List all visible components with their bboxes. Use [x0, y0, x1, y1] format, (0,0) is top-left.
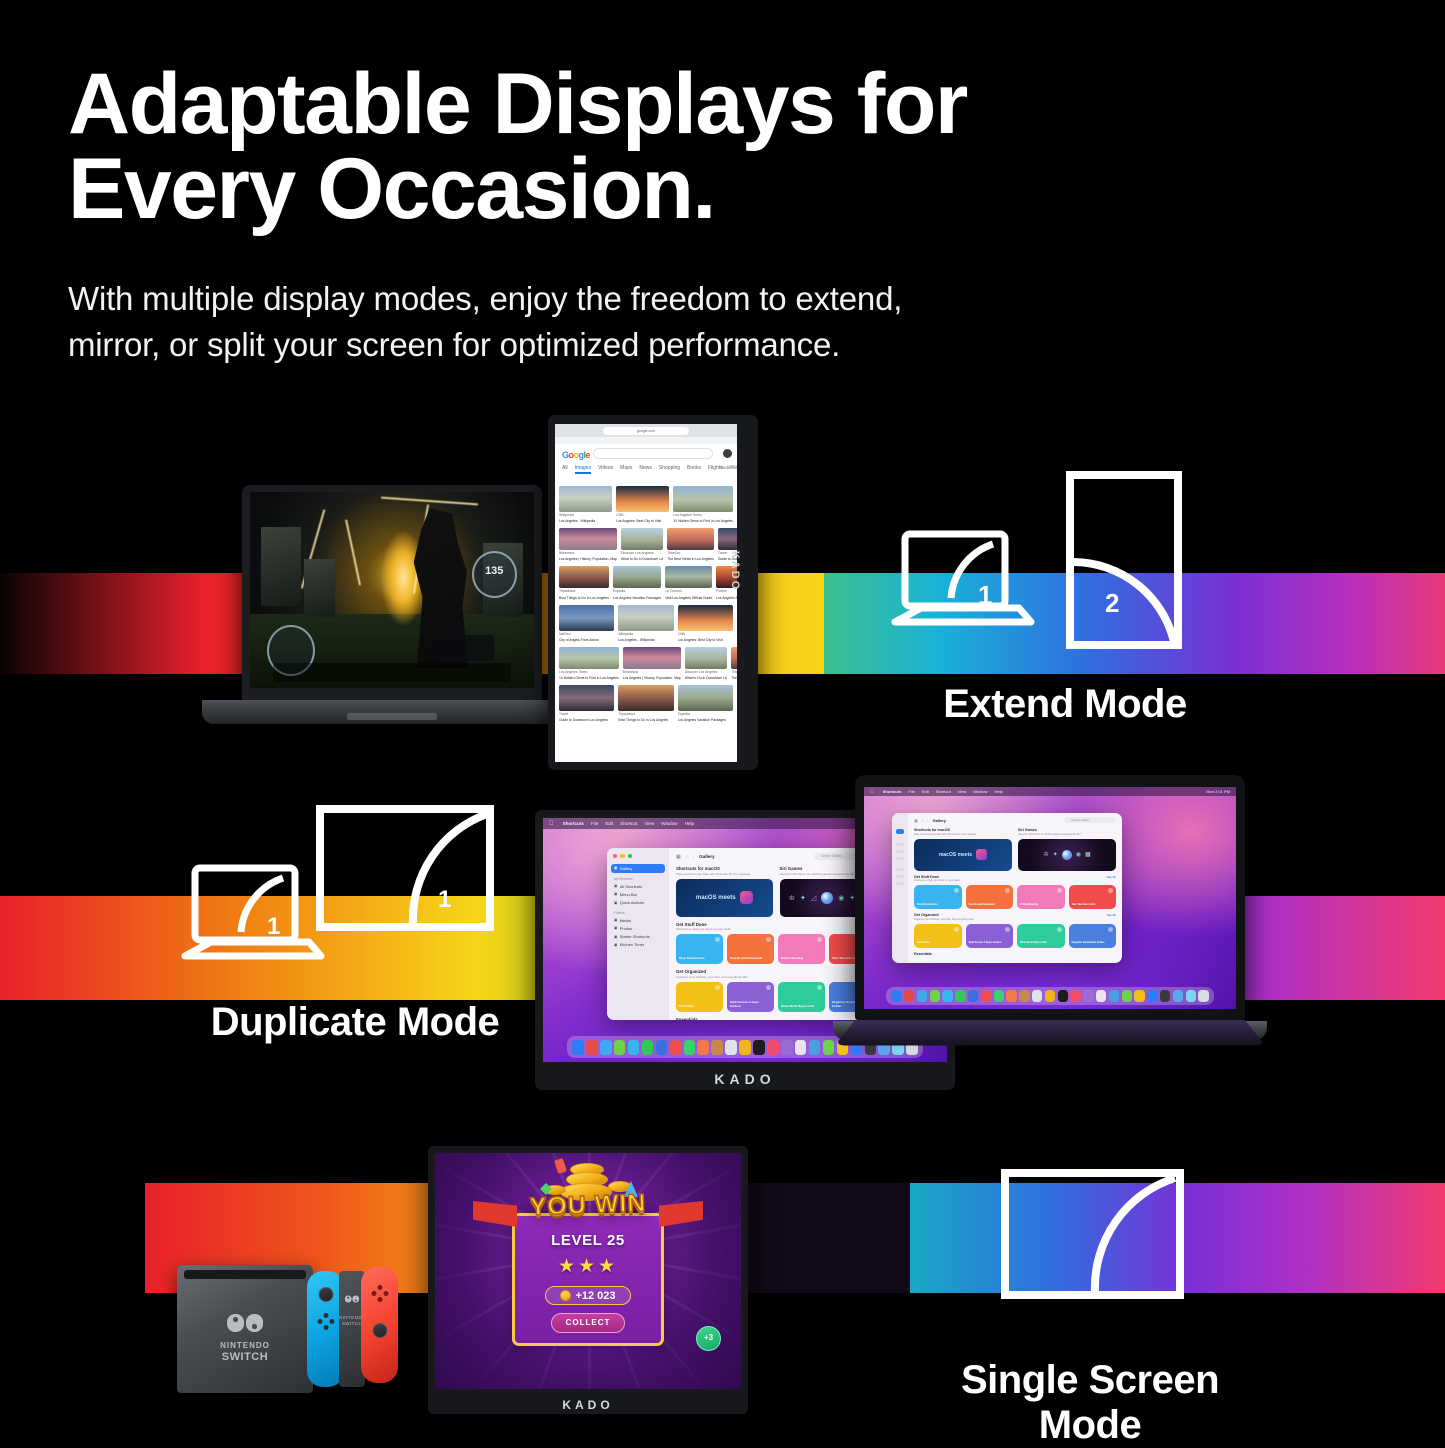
dock-icon[interactable]	[917, 990, 927, 1002]
dock-icon[interactable]	[642, 1040, 654, 1055]
nintendo-switch-logo-icon	[226, 1313, 264, 1333]
card-icon	[1005, 888, 1010, 893]
dock-icon[interactable]	[994, 990, 1004, 1002]
sidebar-item-media[interactable]: ▣Media	[611, 916, 665, 924]
dock-icon[interactable]	[809, 1040, 821, 1055]
dice-icon: ▦	[1085, 851, 1091, 858]
minimize-icon	[620, 854, 624, 858]
sidebar-item-icon: ▣	[614, 926, 617, 930]
search-tab[interactable]: Books	[687, 465, 701, 474]
shortcut-card[interactable]: Turn Text into Audio	[1069, 885, 1117, 909]
result-title: Best Things to Do in Los Angeles	[559, 596, 609, 601]
section-heading: Siri Games	[1018, 828, 1116, 832]
result-thumbnail[interactable]	[618, 685, 673, 711]
dock-icon[interactable]	[586, 1040, 598, 1055]
gaming-laptop-device: 135	[180, 485, 600, 785]
search-tab[interactable]: All	[562, 465, 568, 474]
extend-mode-row: 135 google.com Google AllImagesVide	[0, 415, 1445, 775]
image-result[interactable]: ExpediaLos Angeles Vacation Packages	[613, 566, 661, 600]
menubar-item[interactable]: Help	[995, 789, 1003, 794]
menubar-item[interactable]: Help	[685, 821, 694, 826]
image-result[interactable]: TimeOutThe Best Views in Los Angeles	[731, 647, 737, 681]
sidebar-item-label: All Shortcuts	[620, 884, 642, 889]
hero-label: macOS meets	[696, 895, 736, 901]
dock-icon[interactable]	[1173, 990, 1183, 1002]
menubar-item[interactable]: Shortcut	[620, 821, 637, 826]
menubar-item[interactable]: Window	[973, 789, 987, 794]
result-thumbnail[interactable]	[559, 566, 609, 588]
dock-icon[interactable]	[981, 990, 991, 1002]
dock-icon[interactable]	[1070, 990, 1080, 1002]
section-sub: Organize your desktop, your files, and e…	[914, 918, 1116, 921]
apple-logo-icon: 	[549, 821, 554, 827]
forward-icon[interactable]: ›	[927, 818, 928, 823]
star-icon: ✦	[1053, 851, 1058, 858]
image-result[interactable]: TripadvisorBest Things to Do in Los Ange…	[618, 685, 673, 723]
result-thumbnail[interactable]	[559, 528, 617, 550]
dock-icon[interactable]	[628, 1040, 640, 1055]
sidebar-item-kitchen-timer[interactable]: ▣Kitchen Timer	[611, 941, 665, 949]
dock-icon[interactable]	[1019, 990, 1029, 1002]
result-title: What to Do in Downtown LA	[621, 557, 663, 562]
search-tabs[interactable]: AllImagesVideosMapsNewsShoppingBooksFlig…	[562, 465, 737, 474]
sidebar-item-label: Menu Bar	[620, 892, 637, 897]
see-all-link[interactable]: See All	[1107, 913, 1116, 917]
result-thumbnail[interactable]	[559, 647, 619, 669]
image-result[interactable]: Los Angeles Times10 Hidden Gems to Find …	[673, 486, 733, 524]
image-result[interactable]: ExpediaLos Angeles Vacation Packages	[678, 685, 733, 723]
sidebar-item-label: Quick Actions	[620, 900, 644, 905]
shortcut-card[interactable]: Online Meeting	[778, 934, 825, 964]
card-label: Online Meeting	[1020, 903, 1060, 906]
result-title: Los Angeles Vacation Packages	[613, 596, 661, 601]
dock-icon[interactable]	[823, 1040, 835, 1055]
result-title: What to Do in Downtown LA	[685, 676, 727, 681]
card-label: Stop Distractions	[917, 903, 957, 906]
image-result[interactable]: Discover Los AngelesWhat to Do in Downto…	[685, 647, 727, 681]
image-result[interactable]: Discover Los AngelesWhat to Do in Downto…	[621, 528, 663, 562]
result-thumbnail[interactable]	[613, 566, 661, 588]
result-thumbnail[interactable]	[718, 528, 737, 550]
shortcut-card[interactable]: Sort Inbox	[676, 982, 723, 1012]
result-source: Discover Los Angeles	[621, 551, 663, 556]
dock-icon[interactable]	[670, 1040, 682, 1055]
apple-logo-icon: 	[870, 789, 874, 795]
coin-icon	[560, 1290, 571, 1301]
result-title: Los Angeles Skyline at Sunset	[716, 596, 737, 601]
ammo-counter: 135	[477, 566, 511, 577]
section-sub: Take control of your Mac with shortcuts …	[676, 872, 773, 876]
result-source: LA Tourism	[665, 589, 712, 594]
card-label: Wine Mock Days Limit	[781, 1005, 821, 1009]
laptop-icon	[881, 528, 1036, 640]
dock-icon[interactable]	[1147, 990, 1157, 1002]
image-result[interactable]: BritannicaLos Angeles | History, Populat…	[559, 528, 617, 562]
result-title: Los Angeles: Best City to Visit	[678, 638, 733, 643]
result-source: Tripadvisor	[559, 589, 609, 594]
card-icon	[1057, 888, 1062, 893]
shortcut-card[interactable]: Organize Downloads Folder	[1069, 924, 1117, 948]
sidebar-group-label: Folders	[614, 911, 665, 915]
hero-card-macos[interactable]: macOS meets	[676, 879, 773, 917]
dock-icon[interactable]	[725, 1040, 737, 1055]
result-source: Travel	[559, 712, 614, 717]
dock-icon[interactable]	[656, 1040, 668, 1055]
dock-icon[interactable]	[1198, 990, 1208, 1002]
search-input[interactable]	[593, 448, 713, 459]
dock-icon[interactable]	[904, 990, 914, 1002]
card-icon	[715, 937, 720, 942]
dock-icon[interactable]	[1109, 990, 1119, 1002]
coin-reward: +12 023	[545, 1286, 631, 1305]
dock-icon[interactable]	[739, 1040, 751, 1055]
menubar-item[interactable]: Shortcuts	[883, 789, 902, 794]
menubar-items[interactable]: ShortcutsFileEditShortcutViewWindowHelp	[563, 821, 702, 826]
image-result[interactable]: NatGeoCity of Angels From Above	[559, 605, 614, 643]
result-thumbnail[interactable]	[623, 647, 681, 669]
result-thumbnail[interactable]	[673, 486, 733, 512]
dock-icon[interactable]	[1134, 990, 1144, 1002]
collect-button[interactable]: COLLECT	[551, 1313, 625, 1333]
section-sub: Organize your desktop, your files, and e…	[676, 975, 876, 979]
result-source: Britannica	[559, 551, 617, 556]
menubar-item[interactable]: Edit	[922, 789, 929, 794]
card-icon	[1005, 927, 1010, 932]
game-scene: 135	[250, 492, 534, 688]
crown-icon: ♔	[789, 894, 795, 902]
macbook-screen:  ShortcutsFileEditShortcutViewWindowHel…	[864, 787, 1236, 1009]
image-result[interactable]: CNNLos Angeles: Best City to Visit	[616, 486, 669, 524]
page-title: Adaptable Displays for Every Occasion.	[68, 62, 1268, 232]
maximize-icon	[628, 854, 632, 858]
win-panel: LEVEL 25 ★★★ +12 023 COLLECT	[512, 1213, 664, 1346]
result-thumbnail[interactable]	[559, 605, 614, 631]
dock-icon[interactable]	[600, 1040, 612, 1055]
page-subtitle: With multiple display modes, enjoy the f…	[68, 276, 1268, 367]
star-rating: ★★★	[523, 1255, 653, 1278]
result-title: Los Angeles | History, Population, Map	[623, 676, 681, 681]
hero-label: macOS meets	[939, 852, 972, 858]
menubar-clock: Mon 2:01 PM	[1206, 789, 1230, 794]
duplicate-mode-row: 1 1 Duplicate Mode  ShortcutsFileEditSh…	[0, 780, 1445, 1100]
dock-icon[interactable]	[1096, 990, 1106, 1002]
card-label: Search and Download	[730, 957, 770, 961]
dock-icon[interactable]	[572, 1040, 584, 1055]
image-result[interactable]: WikipediaLos Angeles - Wikipedia	[559, 486, 612, 524]
coin-amount: +12 023	[575, 1290, 615, 1302]
game-monitor-device: YOU WIN LEVEL 25 ★★★ +12 023 COLLECT +3 …	[428, 1146, 748, 1414]
result-source: CNN	[678, 632, 733, 637]
menubar-item[interactable]: File	[591, 821, 598, 826]
shortcut-card[interactable]: Stop Distractions	[676, 934, 723, 964]
dock-icon[interactable]	[767, 1040, 779, 1055]
card-icon	[1108, 888, 1113, 893]
shortcuts-main: ▦ ‹ › Gallery Search Gallery Shortcuts f…	[669, 848, 883, 1020]
crown-icon: ♔	[1043, 851, 1048, 858]
result-source: TimeOut	[667, 551, 714, 556]
menubar-status[interactable]: Mon 2:01 PM	[1206, 789, 1230, 794]
shortcut-card[interactable]: Search and Download	[966, 885, 1014, 909]
result-title: Los Angeles: Best City to Visit	[616, 519, 669, 524]
see-all-link[interactable]: See All	[1107, 875, 1116, 879]
forward-icon[interactable]: ›	[692, 854, 694, 860]
result-title: Guide to Downtown Los Angeles	[559, 718, 614, 723]
result-thumbnail[interactable]	[678, 605, 733, 631]
header: Adaptable Displays for Every Occasion. W…	[68, 62, 1268, 367]
result-source: CNN	[616, 513, 669, 518]
result-source: TimeOut	[731, 670, 737, 675]
result-source: Expedia	[678, 712, 733, 717]
dock-icon[interactable]	[684, 1040, 696, 1055]
search-tab[interactable]: Web	[730, 465, 737, 474]
shortcuts-window[interactable]: ▣GalleryMy Shortcuts▣All Shortcuts▣Menu …	[607, 848, 883, 1020]
chat-icon: ◿	[811, 894, 816, 902]
brand-logo-game-monitor: KADO	[428, 1398, 748, 1412]
window-title: Gallery	[699, 854, 715, 859]
duplicate-laptop-number: 1	[267, 913, 280, 941]
card-grid-get-stuff-done[interactable]: Stop DistractionsSearch and DownloadOnli…	[676, 934, 876, 964]
result-thumbnail[interactable]	[731, 647, 737, 669]
sidebar-item-quick-actions[interactable]: ▣Quick Actions	[611, 898, 665, 906]
game-monitor-screen: YOU WIN LEVEL 25 ★★★ +12 023 COLLECT +3	[435, 1153, 741, 1389]
card-icon	[715, 985, 720, 990]
sidebar-item-all-shortcuts[interactable]: ▣All Shortcuts	[611, 882, 665, 890]
shortcut-card[interactable]: Wine Mock Days Limit	[778, 982, 825, 1012]
card-icon	[1057, 927, 1062, 932]
result-thumbnail[interactable]	[685, 647, 727, 669]
result-thumbnail[interactable]	[559, 486, 612, 512]
result-thumbnail[interactable]	[621, 528, 663, 550]
browser-url-bar[interactable]: google.com	[603, 427, 689, 435]
sidebar-item-menu-bar[interactable]: ▣Menu Bar	[611, 890, 665, 898]
section-sub: Shortcuts to help you focus on your task…	[914, 879, 1116, 882]
result-thumbnail[interactable]	[678, 685, 733, 711]
card-label: Stop Distractions	[679, 957, 719, 961]
search-tab[interactable]: Shopping	[659, 465, 680, 474]
image-result[interactable]: WikipediaLos Angeles - Wikipedia	[618, 605, 673, 643]
result-source: Los Angeles Times	[559, 670, 619, 675]
dock-icon[interactable]	[1058, 990, 1068, 1002]
sidebar-item-icon: ▣	[614, 866, 617, 870]
shortcuts-search-input[interactable]: Search Gallery	[1064, 817, 1116, 823]
sidebar-item-label: Media	[620, 918, 631, 923]
section-sub: Take control of your Mac with shortcuts …	[914, 833, 1012, 836]
result-title: City of Angels From Above	[559, 638, 614, 643]
dock-icon[interactable]	[891, 990, 901, 1002]
image-result[interactable]: CNNLos Angeles: Best City to Visit	[678, 605, 733, 643]
back-icon[interactable]: ‹	[686, 854, 688, 860]
card-grid-get-organized[interactable]: Sort InboxSplit Screen 2 Apps CarbonWine…	[914, 924, 1116, 948]
result-thumbnail[interactable]	[665, 566, 712, 588]
card-label: Online Meeting	[781, 957, 821, 961]
image-result[interactable]: Los Angeles Times10 Hidden Gems to Find …	[559, 647, 619, 681]
card-grid-get-stuff-done[interactable]: Stop DistractionsSearch and DownloadOnli…	[914, 885, 1116, 909]
sidebar-item-photos[interactable]: ▣Photos	[611, 924, 665, 932]
sidebar-toggle-icon[interactable]: ▦	[914, 818, 918, 823]
section-heading: Get Stuff Done	[914, 875, 1116, 879]
menubar-item[interactable]: View	[644, 821, 654, 826]
sidebar-item-starter-shortcuts[interactable]: ▣Starter Shortcuts	[611, 933, 665, 941]
siri-orb-icon	[1062, 850, 1072, 860]
sidebar-item-icon: ▣	[614, 901, 617, 905]
result-thumbnail[interactable]	[618, 605, 673, 631]
tools-button[interactable]: Tools	[720, 465, 730, 470]
google-logo: Google	[562, 450, 590, 460]
card-label: Organize Downloads Folder	[1072, 941, 1112, 944]
result-source: Tripadvisor	[618, 712, 673, 717]
back-icon[interactable]: ‹	[922, 818, 923, 823]
single-screen-mode-row: NINTENDO SWITCH NINTENDO SWITCH	[0, 1130, 1445, 1430]
dock-icon[interactable]	[614, 1040, 626, 1055]
menubar-item[interactable]: Window	[661, 821, 677, 826]
menubar-items[interactable]: ShortcutsFileEditShortcutViewWindowHelp	[883, 789, 1010, 794]
result-source: Discover Los Angeles	[685, 670, 727, 675]
shortcuts-app-icon	[976, 849, 987, 860]
menubar-item[interactable]: File	[908, 789, 914, 794]
dock-icon[interactable]	[697, 1040, 709, 1055]
card-label: Wine Mock Days Limit	[1020, 941, 1060, 944]
image-result[interactable]: LA TourismVisit Los Angeles Official Gui…	[665, 566, 712, 600]
duplicate-mode-label: Duplicate Mode	[155, 1000, 555, 1045]
extend-mode-block: 1 2 Extend Mode	[865, 470, 1265, 727]
dock-icon[interactable]	[1160, 990, 1170, 1002]
eye-icon: ◉	[1076, 851, 1081, 858]
siri-orb-icon	[821, 892, 833, 904]
dock-icon[interactable]	[795, 1040, 807, 1055]
result-title: Los Angeles | History, Population, Map	[559, 557, 617, 562]
extend-mode-label: Extend Mode	[865, 682, 1265, 727]
search-tab[interactable]: News	[639, 465, 652, 474]
result-thumbnail[interactable]	[667, 528, 714, 550]
duplicate-monitor-number: 1	[438, 886, 451, 914]
card-label: Split Screen 2 Apps Carbon	[969, 941, 1009, 944]
dock-icon[interactable]	[1083, 990, 1093, 1002]
search-tab[interactable]: Images	[575, 465, 591, 474]
dock-icon[interactable]	[1045, 990, 1055, 1002]
menubar-item[interactable]: Shortcut	[936, 789, 951, 794]
image-result[interactable]: TravelGuide to Downtown Los Angeles	[559, 685, 614, 723]
dock-icon[interactable]	[711, 1040, 723, 1055]
dock-icon[interactable]	[1122, 990, 1132, 1002]
joycon-right	[361, 1267, 398, 1383]
shortcut-card[interactable]: Stop Distractions	[914, 885, 962, 909]
extend-laptop-number: 1	[978, 580, 992, 611]
result-title: Best Things to Do in Los Angeles	[618, 718, 673, 723]
nintendo-switch-device: NINTENDO SWITCH NINTENDO SWITCH	[155, 1255, 395, 1420]
dock-icon[interactable]	[942, 990, 952, 1002]
shortcut-card[interactable]: Online Meeting	[1017, 885, 1065, 909]
section-heading: Shortcuts for macOS	[676, 866, 773, 871]
shortcut-card[interactable]: Wine Mock Days Limit	[1017, 924, 1065, 948]
dock-icon[interactable]	[930, 990, 940, 1002]
shortcut-card[interactable]: Search and Download	[727, 934, 774, 964]
single-screen-mode-icons	[890, 1160, 1290, 1340]
shortcuts-app-icon	[740, 891, 753, 904]
sidebar-item-label: Photos	[620, 926, 632, 931]
result-source: NatGeo	[559, 632, 614, 637]
dock-icon[interactable]	[753, 1040, 765, 1055]
result-thumbnail[interactable]	[616, 486, 669, 512]
card-icon	[817, 985, 822, 990]
window-traffic-lights[interactable]	[613, 854, 665, 858]
notch	[1017, 775, 1083, 784]
section-heading: Get Organized	[914, 913, 1116, 917]
card-icon	[817, 937, 822, 942]
search-tab[interactable]: Maps	[620, 465, 632, 474]
sidebar-item-icon: ▣	[614, 943, 617, 947]
macbook-device:  ShortcutsFileEditShortcutViewWindowHel…	[855, 775, 1245, 1075]
dock-icon[interactable]	[1186, 990, 1196, 1002]
switch-brand-text: NINTENDO SWITCH	[177, 1341, 313, 1365]
laptop-icon	[171, 862, 326, 974]
sidebar-toggle-icon[interactable]: ▦	[676, 854, 681, 860]
sidebar-items[interactable]: ▣GalleryMy Shortcuts▣All Shortcuts▣Menu …	[611, 864, 665, 949]
switch-dock: NINTENDO SWITCH	[177, 1265, 313, 1393]
single-screen-mode-label: Single Screen Mode	[890, 1358, 1290, 1448]
dock-icon[interactable]	[955, 990, 965, 1002]
result-title: The Best Views in Los Angeles	[667, 557, 714, 562]
section-heading: Essentials	[676, 1017, 876, 1021]
image-result[interactable]: BritannicaLos Angeles | History, Populat…	[623, 647, 681, 681]
avatar[interactable]	[723, 449, 732, 458]
monitor-landscape-icon	[315, 804, 495, 934]
result-source: Los Angeles Times	[673, 513, 733, 518]
sidebar-item-icon: ▣	[614, 892, 617, 896]
bonus-badge[interactable]: +3	[696, 1326, 721, 1351]
menubar-item[interactable]: Shortcuts	[563, 821, 584, 826]
monitor-landscape-icon	[1000, 1168, 1185, 1303]
you-win-title: YOU WIN	[529, 1189, 647, 1222]
sidebar-item-label: Starter Shortcuts	[620, 934, 650, 939]
result-title: Visit Los Angeles Official Guide	[665, 596, 712, 601]
menubar-item[interactable]: Edit	[605, 821, 613, 826]
shortcut-card[interactable]: Split Screen 2 Apps Carbon	[727, 982, 774, 1012]
dock-icon[interactable]	[968, 990, 978, 1002]
shortcuts-window-mirrored[interactable]: ▦ ‹ › Gallery Search Gallery Shortcuts f…	[892, 813, 1122, 963]
shortcut-card[interactable]: Split Screen 2 Apps Carbon	[966, 924, 1014, 948]
image-result[interactable]: TimeOutThe Best Views in Los Angeles	[667, 528, 714, 562]
dock-icon[interactable]	[1032, 990, 1042, 1002]
search-tab[interactable]: Videos	[598, 465, 613, 474]
monitor-portrait-icon	[1065, 470, 1183, 650]
brand-logo-portrait: KADO	[729, 551, 741, 591]
card-grid-get-organized[interactable]: Sort InboxSplit Screen 2 Apps CarbonWine…	[676, 982, 876, 1012]
dock-icon[interactable]	[781, 1040, 793, 1055]
card-label: Split Screen 2 Apps Carbon	[730, 1001, 770, 1009]
result-thumbnail[interactable]	[559, 685, 614, 711]
shortcuts-sidebar[interactable]: ▣GalleryMy Shortcuts▣All Shortcuts▣Menu …	[607, 848, 669, 1020]
menubar-item[interactable]: View	[958, 789, 967, 794]
image-results-grid: WikipediaLos Angeles - WikipediaCNNLos A…	[559, 486, 733, 758]
eye-icon: ◉	[838, 894, 844, 902]
image-result[interactable]: TripadvisorBest Things to Do in Los Ange…	[559, 566, 609, 600]
shortcuts-sidebar[interactable]	[892, 813, 908, 963]
mac-dock[interactable]	[886, 987, 1213, 1005]
shortcut-card[interactable]: Sort Inbox	[914, 924, 962, 948]
extend-mode-icons: 1 2	[865, 470, 1265, 660]
section-sub: Have fun with Siri in six shortcut games…	[1018, 833, 1116, 836]
portrait-monitor-screen: google.com Google AllImagesVideosMapsNew…	[555, 424, 737, 762]
sidebar-item-gallery[interactable]: ▣Gallery	[611, 864, 665, 872]
dock-icon[interactable]	[1006, 990, 1016, 1002]
star-icon: ✦	[800, 894, 806, 902]
sidebar-item-label: Gallery	[620, 866, 633, 871]
card-label: Turn Text into Audio	[1072, 903, 1112, 906]
card-icon	[1108, 927, 1113, 932]
sidebar-item-icon: ▣	[614, 918, 617, 922]
duplicate-mode-icons: 1 1	[155, 800, 555, 980]
shortcuts-toolbar[interactable]: ▦ ‹ › Gallery Search Gallery	[676, 853, 876, 860]
